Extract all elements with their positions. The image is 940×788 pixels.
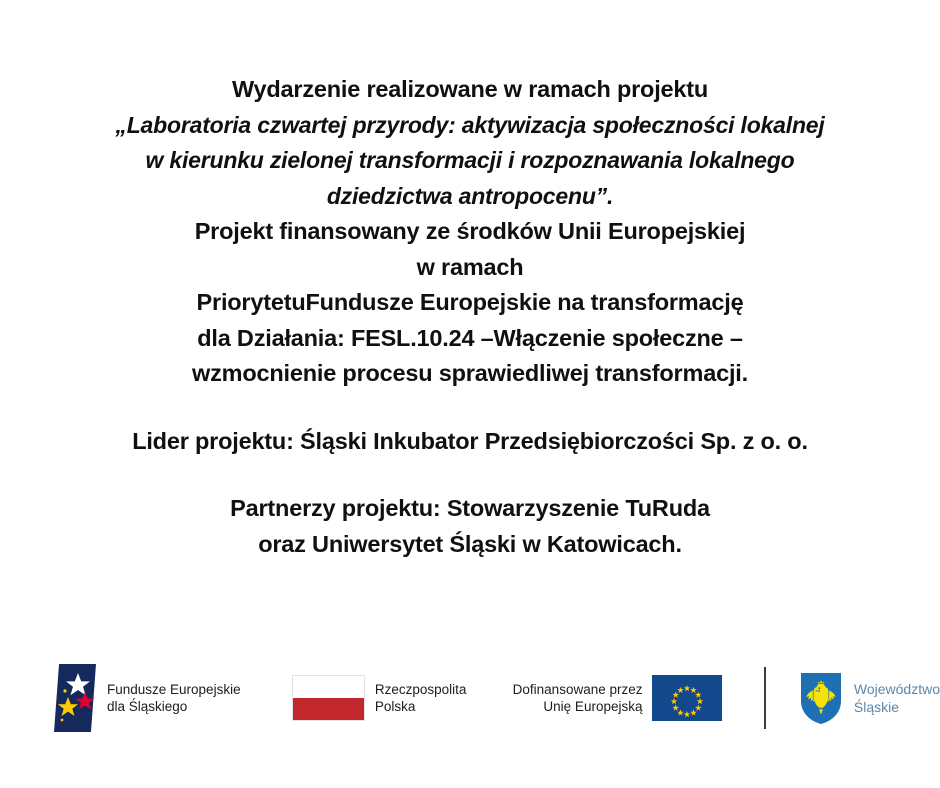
info-line-9: wzmocnienie procesu sprawiedliwej transf… xyxy=(0,356,940,392)
info-line-5: Projekt finansowany ze środków Unii Euro… xyxy=(0,214,940,250)
project-info-block: Wydarzenie realizowane w ramach projektu… xyxy=(0,72,940,562)
info-line-7: PriorytetuFundusze Europejskie na transf… xyxy=(0,285,940,321)
silesian-eagle-shield-icon xyxy=(799,671,843,725)
info-line-partners-1: Partnerzy projektu: Stowarzyszenie TuRud… xyxy=(0,491,940,527)
info-line-2: „Laboratoria czwartej przyrody: aktywiza… xyxy=(0,108,940,144)
text-gap-1 xyxy=(0,392,940,424)
voivodeship-label: Województwo Śląskie xyxy=(854,680,940,716)
info-line-leader: Lider projektu: Śląski Inkubator Przedsi… xyxy=(0,424,940,460)
logo-republic-of-poland: Rzeczpospolita Polska xyxy=(292,675,467,721)
polish-flag-white-band xyxy=(293,676,364,698)
eu-cofunded-label-line1: Dofinansowane przez xyxy=(513,681,643,699)
logo-divider xyxy=(764,667,766,729)
eu-funds-label-line2: dla Śląskiego xyxy=(107,698,241,716)
info-line-6: w ramach xyxy=(0,250,940,286)
eu-cofunded-label-line2: Unię Europejską xyxy=(513,698,643,716)
republic-of-poland-label-line2: Polska xyxy=(375,698,467,716)
eu-funds-stars-mark-icon xyxy=(54,664,96,732)
polish-flag-icon xyxy=(292,675,365,721)
info-line-8: dla Działania: FESL.10.24 –Włączenie spo… xyxy=(0,321,940,357)
logo-eu-funds: Fundusze Europejskie dla Śląskiego xyxy=(54,664,241,732)
text-gap-2 xyxy=(0,459,940,491)
republic-of-poland-label: Rzeczpospolita Polska xyxy=(375,681,467,716)
polish-flag-red-band xyxy=(293,698,364,720)
poster-page: Wydarzenie realizowane w ramach projektu… xyxy=(0,0,940,788)
info-line-partners-2: oraz Uniwersytet Śląski w Katowicach. xyxy=(0,527,940,563)
funding-logo-bar: Fundusze Europejskie dla Śląskiego Rzecz… xyxy=(0,652,940,744)
eu-cofunded-label: Dofinansowane przez Unię Europejską xyxy=(513,681,643,716)
voivodeship-label-line1: Województwo xyxy=(854,680,940,698)
info-line-3: w kierunku zielonej transformacji i rozp… xyxy=(0,143,940,179)
info-line-4: dziedzictwa antropocenu”. xyxy=(0,179,940,215)
european-union-flag-icon xyxy=(652,675,722,721)
logo-eu-cofunded: Dofinansowane przez Unię Europejską xyxy=(513,675,723,721)
logo-voivodeship-silesian: Województwo Śląskie xyxy=(799,671,940,725)
eu-funds-label: Fundusze Europejskie dla Śląskiego xyxy=(107,681,241,716)
eu-funds-label-line1: Fundusze Europejskie xyxy=(107,681,241,699)
republic-of-poland-label-line1: Rzeczpospolita xyxy=(375,681,467,699)
info-line-1: Wydarzenie realizowane w ramach projektu xyxy=(0,72,940,108)
voivodeship-label-line2: Śląskie xyxy=(854,698,940,716)
